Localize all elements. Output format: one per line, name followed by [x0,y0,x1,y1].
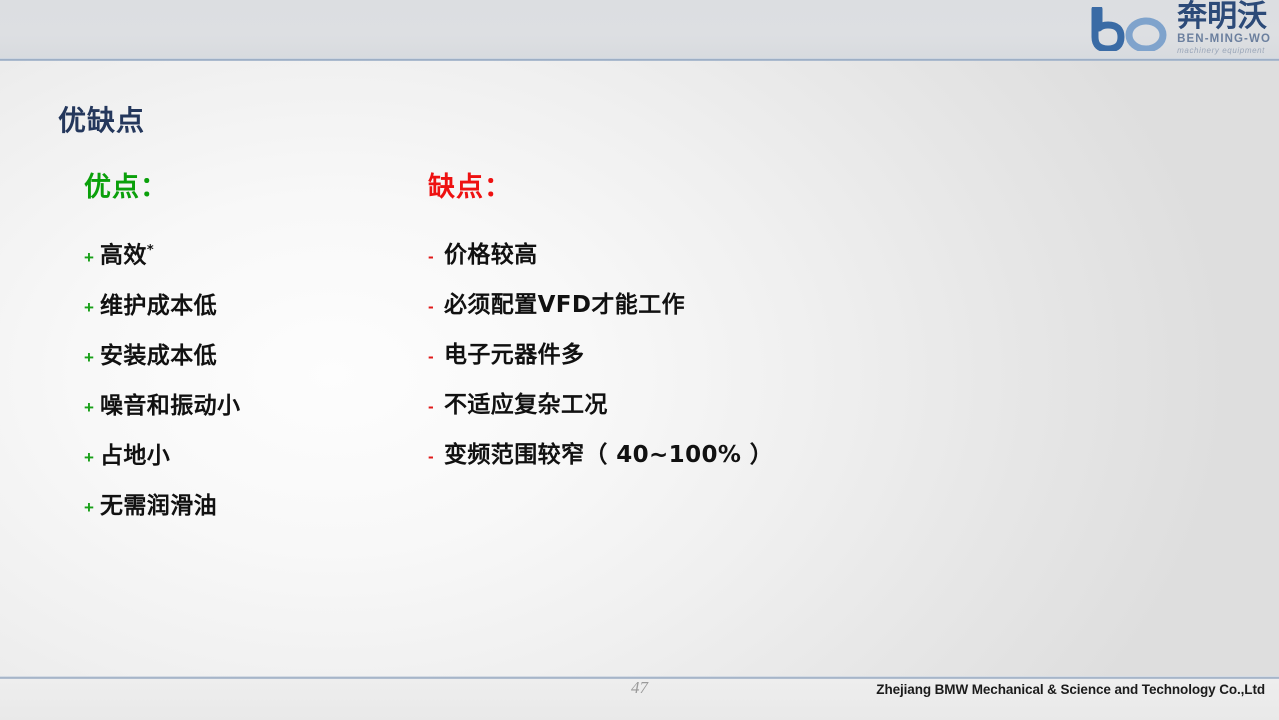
plus-icon: + [84,349,100,366]
list-item: - 电子元器件多 [428,344,848,367]
cons-list: - 价格较高 - 必须配置VFD才能工作 - 电子元器件多 - 不适应复杂工况 … [428,244,848,467]
list-item-label: 噪音和振动小 [100,395,240,418]
logo-tagline: machinery equipment [1177,46,1265,56]
list-item: - 价格较高 [428,244,848,267]
dash-icon: - [428,348,444,365]
list-item: + 噪音和振动小 [84,395,414,418]
list-item: + 维护成本低 [84,295,414,318]
list-item-label: 不适应复杂工况 [444,394,608,417]
list-item-label: 无需润滑油 [100,495,217,518]
list-item-label: 变频范围较窄（ 40~100% ） [444,444,773,467]
list-item: + 无需润滑油 [84,495,414,518]
header-divider [0,58,1279,61]
list-item: - 不适应复杂工况 [428,394,848,417]
bo-monogram-icon [1089,7,1173,51]
list-item-label: 占地小 [100,445,170,468]
plus-icon: + [84,499,100,516]
plus-icon: + [84,449,100,466]
page-title: 优缺点 [58,99,145,139]
footer-company-name: Zhejiang BMW Mechanical & Science and Te… [876,682,1265,697]
plus-icon: + [84,299,100,316]
list-item-label: 电子元器件多 [444,344,584,367]
footnote-asterisk: * [147,243,154,258]
logo-english-name: BEN-MING-WO [1177,33,1271,46]
slide-canvas: 奔明沃 BEN-MING-WO machinery equipment 优缺点 … [0,0,1279,720]
dash-icon: - [428,298,444,315]
dash-icon: - [428,248,444,265]
cons-heading: 缺点： [428,165,848,204]
logo-chinese-name: 奔明沃 [1177,2,1267,32]
list-item: + 安装成本低 [84,345,414,368]
list-item-label: 高效* [100,244,154,268]
list-item-label: 安装成本低 [100,345,217,368]
pros-column: 优点： + 高效* + 维护成本低 + 安装成本低 + 噪音和振动小 + 占地小 [84,165,414,545]
list-item: - 变频范围较窄（ 40~100% ） [428,444,848,467]
list-item-label: 维护成本低 [100,295,217,318]
pros-list: + 高效* + 维护成本低 + 安装成本低 + 噪音和振动小 + 占地小 + 无… [84,244,414,518]
logo-text-block: 奔明沃 BEN-MING-WO machinery equipment [1177,2,1271,57]
list-item-label: 必须配置VFD才能工作 [444,294,685,317]
cons-column: 缺点： - 价格较高 - 必须配置VFD才能工作 - 电子元器件多 - 不适应复… [428,165,848,494]
pros-heading: 优点： [84,165,414,204]
list-item: + 高效* [84,244,414,268]
plus-icon: + [84,249,100,266]
plus-icon: + [84,399,100,416]
dash-icon: - [428,398,444,415]
list-item: - 必须配置VFD才能工作 [428,294,848,317]
list-item: + 占地小 [84,445,414,468]
list-item-label: 价格较高 [444,244,538,267]
dash-icon: - [428,448,444,465]
company-logo: 奔明沃 BEN-MING-WO machinery equipment [1053,3,1271,55]
